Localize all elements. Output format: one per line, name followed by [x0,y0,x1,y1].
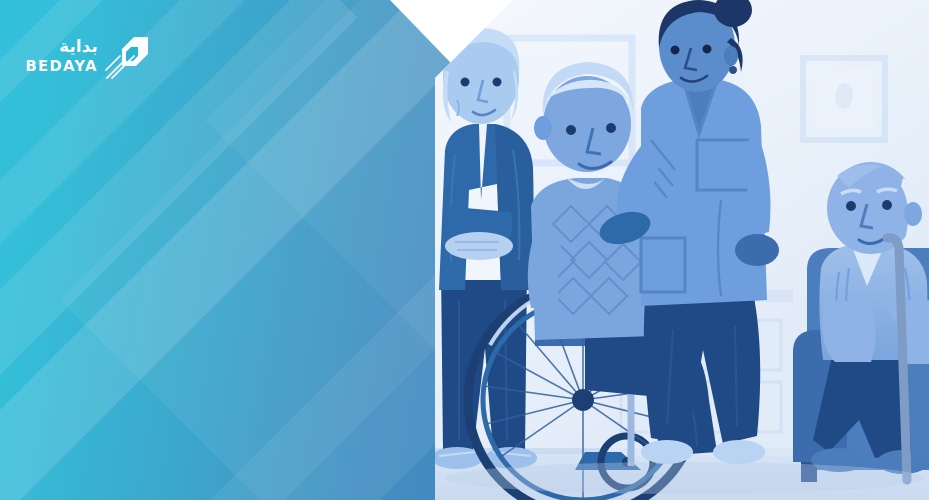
wall-picture-frame-small [803,58,885,140]
floor-shadow [445,462,925,494]
home-elderly-care-illustration [435,0,929,500]
eye [566,125,576,135]
hands [445,232,513,260]
ear [904,202,922,226]
eye [703,45,712,54]
wheel-hub [572,389,594,411]
shoe [713,440,765,464]
logo-wordmark: بداية BEDAYA [25,39,98,74]
bedaya-logo[interactable]: بداية BEDAYA [22,28,152,84]
shoe [641,440,693,464]
eye [461,78,470,87]
nurse-hand [735,234,779,266]
eye [882,200,892,210]
arm [528,232,563,308]
illustration-artwork [435,0,929,500]
logo-latin-text: BEDAYA [25,59,98,74]
ear [724,46,738,66]
arm [823,300,876,362]
eye [671,46,680,55]
earring [729,66,737,74]
eye [493,78,502,87]
eye [606,123,616,133]
logo-arabic-text: بداية [59,39,98,56]
banner-canvas: بداية BEDAYA دراسة جدوى رعايه المنزليه ل… [0,0,929,500]
bedaya-cube-mark-icon [104,32,152,80]
ear [534,116,552,140]
eye [846,201,856,211]
